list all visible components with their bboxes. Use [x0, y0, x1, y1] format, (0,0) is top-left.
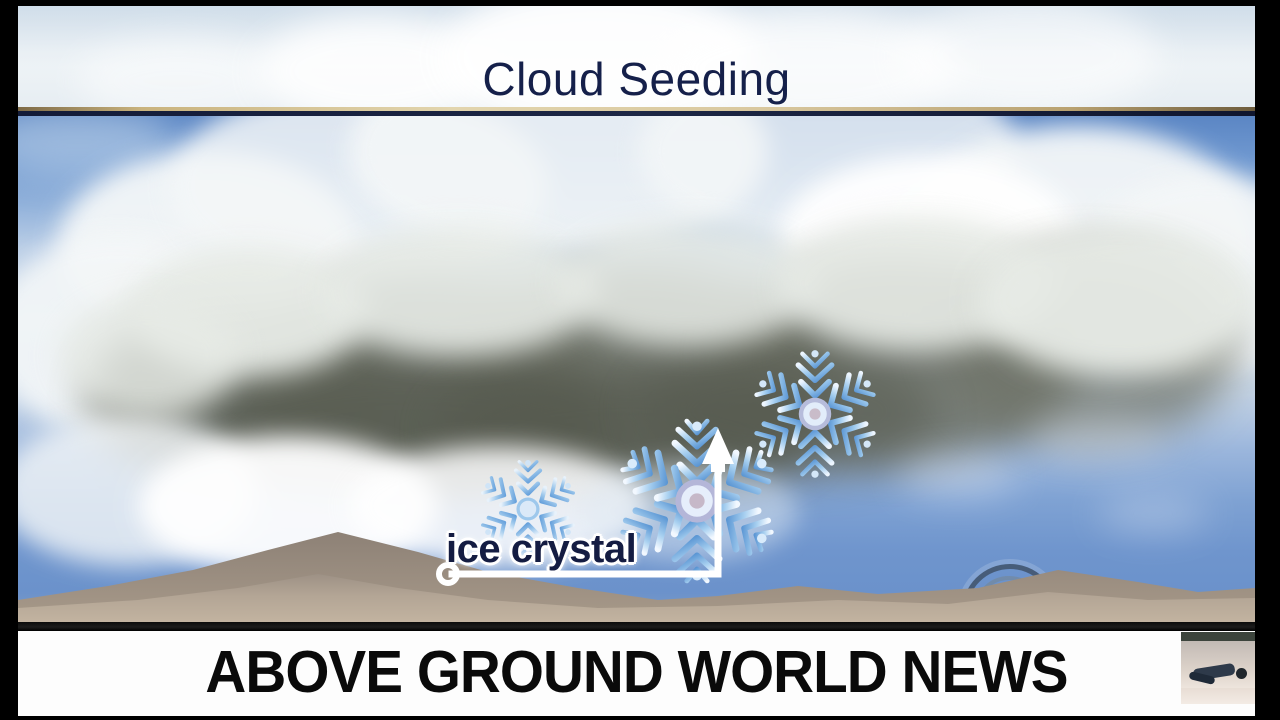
- sky-wisp: [1098, 496, 1208, 532]
- sky-wisp: [1028, 416, 1168, 462]
- letterbox-top: [0, 0, 1280, 6]
- illustration-scene: [18, 116, 1255, 622]
- cloud-lit-top: [58, 296, 238, 416]
- letterbox-right: [1255, 0, 1280, 720]
- snowflake-ice-crystal: [745, 344, 885, 484]
- letterbox-bottom: [0, 716, 1280, 720]
- letterbox-left: [0, 0, 18, 720]
- sky-wisp: [898, 456, 1018, 496]
- cloud-lit-top: [978, 226, 1255, 376]
- snowflake-ice-crystal: [473, 454, 583, 564]
- thumbnail-top-bar: [1181, 632, 1255, 641]
- banner-top-rule: [18, 622, 1255, 631]
- news-banner-title: ABOVE GROUND WORLD NEWS: [43, 634, 1231, 710]
- video-card: Cloud Seeding: [18, 6, 1255, 716]
- cloud-lit-top: [318, 226, 598, 356]
- thumbnail-ground: [1181, 688, 1255, 704]
- title-header-band: Cloud Seeding: [18, 6, 1255, 107]
- video-frame: Cloud Seeding: [0, 0, 1280, 720]
- page-title: Cloud Seeding: [18, 56, 1255, 102]
- thumbnail-object: [1236, 668, 1247, 679]
- news-thumbnail: [1181, 632, 1255, 704]
